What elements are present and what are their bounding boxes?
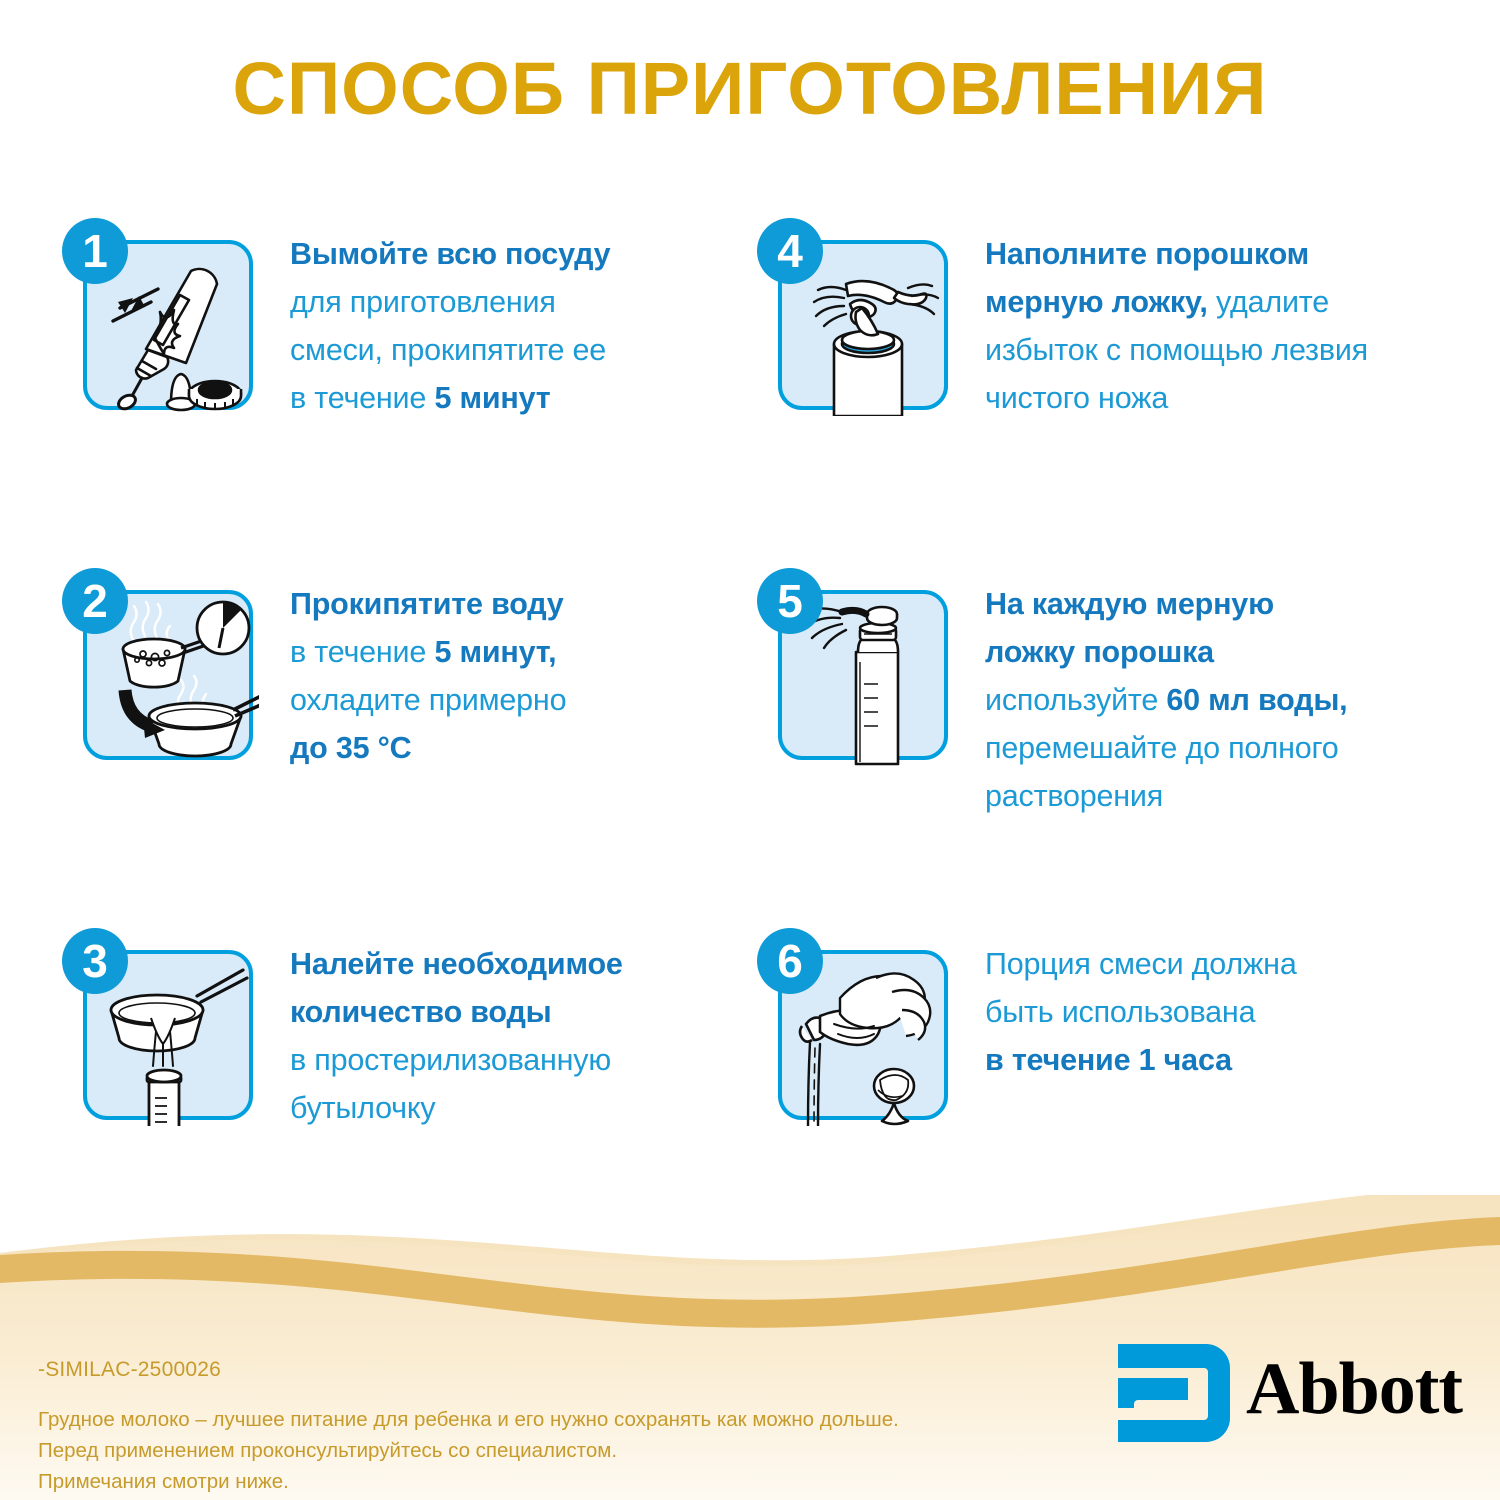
- step-5-number-badge: 5: [757, 568, 823, 634]
- step-2-text: Прокипятите воду в течение 5 минут, охла…: [290, 580, 730, 772]
- disclaimer-line-3: Примечания смотри ниже.: [38, 1466, 1088, 1497]
- step-6-line-3-bold: в течение 1 часа: [985, 1043, 1232, 1077]
- step-2-line-3: охладите примерно: [290, 683, 566, 717]
- step-4-text: Наполните порошком мерную ложку, удалите…: [985, 230, 1475, 422]
- disclaimer-line-2: Перед применением проконсультируйтесь со…: [38, 1435, 1088, 1466]
- step-2-line-2-pre: в течение: [290, 635, 434, 669]
- step-3-text: Налейте необходимое количество воды в пр…: [290, 940, 730, 1132]
- step-3-line-4: бутылочку: [290, 1091, 435, 1125]
- step-1-line-3: смеси, прокипятите ее: [290, 333, 606, 367]
- product-code: -SIMILAC-2500026: [38, 1358, 1088, 1382]
- step-4-lead-2: мерную ложку,: [985, 285, 1208, 319]
- step-1-number-badge: 1: [62, 218, 128, 284]
- step-5-line-3-pre: используйте: [985, 683, 1166, 717]
- footer: -SIMILAC-2500026 Грудное молоко – лучшее…: [38, 1358, 1088, 1497]
- infographic-page: СПОСОБ ПРИГОТОВЛЕНИЯ: [0, 0, 1500, 1500]
- page-title: СПОСОБ ПРИГОТОВЛЕНИЯ: [0, 46, 1500, 131]
- step-5-line-4: перемешайте до полного: [985, 731, 1339, 765]
- step-4-line-2-tail: удалите: [1208, 285, 1329, 319]
- disclaimer: Грудное молоко – лучшее питание для ребе…: [38, 1404, 1088, 1497]
- step-5-lead-1: На каждую мерную: [985, 587, 1274, 621]
- step-1-line-4-bold: 5 минут: [434, 381, 550, 415]
- step-2-lead: Прокипятите воду: [290, 587, 564, 621]
- step-5-text: На каждую мерную ложку порошка используй…: [985, 580, 1475, 820]
- step-2-number-badge: 2: [62, 568, 128, 634]
- steps-grid: 1 Вымойте всю посуду для приготовления с…: [0, 210, 1500, 1200]
- step-1-line-2: для приготовления: [290, 285, 556, 319]
- step-4-line-4: чистого ножа: [985, 381, 1168, 415]
- step-3-lead-2: количество воды: [290, 995, 551, 1029]
- step-1-line-4-pre: в течение: [290, 381, 434, 415]
- step-6-number-badge: 6: [757, 928, 823, 994]
- abbott-logo: Abbott: [1118, 1340, 1468, 1450]
- step-2-line-2-bold: 5 минут,: [434, 635, 556, 669]
- step-2-line-4-bold: до 35 °C: [290, 731, 412, 765]
- step-6-text: Порция смеси должна быть использована в …: [985, 940, 1475, 1084]
- step-4-lead-1: Наполните порошком: [985, 237, 1309, 271]
- step-4-line-3: избыток с помощью лезвия: [985, 333, 1368, 367]
- step-1-lead: Вымойте всю посуду: [290, 237, 610, 271]
- step-6-line-2: быть использована: [985, 995, 1255, 1029]
- step-5-lead-2: ложку порошка: [985, 635, 1214, 669]
- disclaimer-line-1: Грудное молоко – лучшее питание для ребе…: [38, 1404, 1088, 1435]
- step-1-text: Вымойте всю посуду для приготовления сме…: [290, 230, 730, 422]
- abbott-wordmark: Abbott: [1246, 1346, 1462, 1432]
- step-3-lead-1: Налейте необходимое: [290, 947, 623, 981]
- step-5-line-3-bold: 60 мл воды,: [1166, 683, 1347, 717]
- step-3-line-3: в простерилизованную: [290, 1043, 611, 1077]
- step-6-line-1: Порция смеси должна: [985, 947, 1297, 981]
- step-3-number-badge: 3: [62, 928, 128, 994]
- step-5-line-5: растворения: [985, 779, 1163, 813]
- step-4-number-badge: 4: [757, 218, 823, 284]
- abbott-a-symbol-icon: [1118, 1344, 1230, 1442]
